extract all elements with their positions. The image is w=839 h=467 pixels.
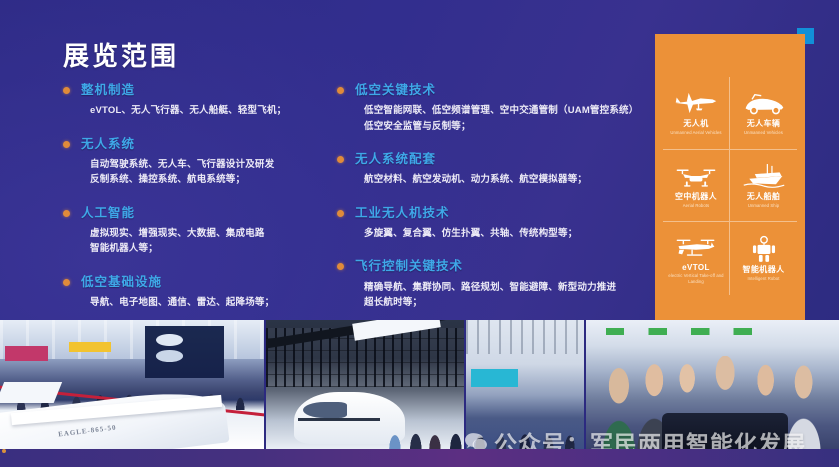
scope-line: 多旋翼、复合翼、仿生扑翼、共轴、传统构型等；	[364, 226, 647, 241]
category-cell-aerial-robot[interactable]: 空中机器人 Aerial Robots	[663, 150, 730, 223]
scope-line: 导航、电子地图、通信、雷达、起降场等；	[90, 295, 331, 310]
category-cell-intelligent-robot[interactable]: 智能机器人 Intelligent Robot	[730, 222, 797, 295]
visitor-crowd	[466, 400, 584, 449]
scope-group-body: 多旋翼、复合翼、仿生扑翼、共轴、传统构型等；	[355, 226, 647, 241]
exhibit-stand	[662, 413, 789, 449]
scope-line: 精确导航、集群协同、路径规划、智能避障、新型动力推进	[364, 280, 647, 295]
orange-dot-icon	[63, 279, 70, 286]
category-cell-label-en: Unmanned Vehicles	[744, 130, 783, 135]
scope-group-heading: 飞行控制关键技术	[355, 258, 647, 274]
quadcopter-icon	[673, 162, 719, 190]
scope-group: 工业无人机技术 多旋翼、复合翼、仿生扑翼、共轴、传统构型等；	[337, 205, 647, 242]
scope-group: 飞行控制关键技术 精确导航、集群协同、路径规划、智能避障、新型动力推进 超长航时…	[337, 258, 647, 310]
scope-line: 低空智能网联、低空频谱管理、空中交通管制（UAM管控系统）	[364, 103, 647, 118]
hangar-helicopter-photo	[266, 320, 466, 449]
unmanned-ship-icon	[741, 162, 787, 190]
orange-dot-icon	[63, 210, 70, 217]
scope-group-heading: 整机制造	[81, 82, 331, 98]
visitor-crowd	[381, 403, 466, 449]
category-cell-evtol[interactable]: eVTOL electric Vertical Take-off and Lan…	[663, 222, 730, 295]
orange-dot-icon	[63, 87, 70, 94]
scope-group-heading: 无人系统配套	[355, 151, 647, 167]
orange-dot-icon	[337, 210, 344, 217]
category-cell-uav[interactable]: 无人机 Unmanned Aerial Vehicles	[663, 77, 730, 150]
booth-display	[145, 326, 224, 378]
scope-line: 智能机器人等；	[90, 241, 331, 256]
scope-group-heading: 工业无人机技术	[355, 205, 647, 221]
scope-line: 自动驾驶系统、无人车、飞行器设计及研发	[90, 157, 331, 172]
helicopter-rotor	[298, 418, 380, 421]
category-cell-label-cn: eVTOL	[682, 264, 710, 273]
scope-line: 低空安全监管与反制等；	[364, 119, 647, 134]
uav-tail	[0, 382, 62, 403]
scope-group-body: 航空材料、航空发动机、动力系统、航空模拟器等；	[355, 172, 647, 187]
scope-group: 人工智能 虚拟现实、增强现实、大数据、集成电路 智能机器人等；	[63, 205, 331, 257]
orange-dot-icon	[337, 156, 344, 163]
orange-dot-icon	[337, 263, 344, 270]
slide-canvas: 展览范围 整机制造 eVTOL、无人飞行器、无人船艇、轻型飞机； 无人系统 自动…	[0, 0, 839, 467]
category-cell-label-cn: 无人船舶	[747, 193, 781, 202]
orange-dot-icon	[63, 141, 70, 148]
scope-group: 低空关键技术 低空智能网联、低空频谱管理、空中交通管制（UAM管控系统） 低空安…	[337, 82, 647, 134]
category-icon-panel: 无人机 Unmanned Aerial Vehicles 无人车辆 Unmann…	[655, 34, 805, 338]
unmanned-car-icon	[741, 89, 787, 117]
scope-group-heading: 低空基础设施	[81, 274, 331, 290]
exit-sign-row	[606, 328, 758, 336]
visitors-discussion-photo	[586, 320, 839, 449]
scope-group-body: 低空智能网联、低空频谱管理、空中交通管制（UAM管控系统） 低空安全监管与反制等…	[355, 103, 647, 134]
scope-line: 超长航时等；	[364, 295, 647, 310]
scope-column-left: 整机制造 eVTOL、无人飞行器、无人船艇、轻型飞机； 无人系统 自动驾驶系统、…	[63, 82, 331, 310]
category-cell-label-en: electric Vertical Take-off and Landing	[665, 273, 727, 284]
scope-group: 无人系统 自动驾驶系统、无人车、飞行器设计及研发 反制系统、操控系统、航电系统等…	[63, 136, 331, 188]
scope-line: 反制系统、操控系统、航电系统等；	[90, 172, 331, 187]
category-cell-label-en: Unmanned Ship	[748, 203, 779, 208]
exhibition-hall-uav-photo: EAGLE-865-50	[0, 320, 266, 449]
evtol-icon	[673, 233, 719, 261]
exhibition-booths-photo	[466, 320, 586, 449]
fixed-wing-uav-icon	[673, 89, 719, 117]
category-cell-label-cn: 无人车辆	[747, 120, 781, 129]
scope-group-heading: 人工智能	[81, 205, 331, 221]
category-cell-label-cn: 无人机	[683, 120, 708, 129]
scope-group-body: 虚拟现实、增强现实、大数据、集成电路 智能机器人等；	[81, 226, 331, 257]
photo-strip: EAGLE-865-50	[0, 320, 839, 449]
category-cell-label-en: Aerial Robots	[683, 203, 709, 208]
humanoid-robot-icon	[741, 235, 787, 263]
bottom-accent-bar	[0, 449, 839, 467]
page-title: 展览范围	[63, 36, 179, 73]
ceiling-truss	[466, 320, 584, 354]
scope-line: 虚拟现实、增强现实、大数据、集成电路	[90, 226, 331, 241]
scope-group-body: 自动驾驶系统、无人车、飞行器设计及研发 反制系统、操控系统、航电系统等；	[81, 157, 331, 188]
scope-column-right: 低空关键技术 低空智能网联、低空频谱管理、空中交通管制（UAM管控系统） 低空安…	[337, 82, 647, 310]
scope-line: 航空材料、航空发动机、动力系统、航空模拟器等；	[364, 172, 647, 187]
scope-group-heading: 无人系统	[81, 136, 331, 152]
booth-banner	[5, 346, 47, 361]
category-cell-label-en: Intelligent Robot	[748, 276, 780, 281]
bottom-dot-decoration	[2, 449, 6, 453]
category-cell-label-en: Unmanned Aerial Vehicles	[670, 130, 721, 135]
category-cell-unmanned-ship[interactable]: 无人船舶 Unmanned Ship	[730, 150, 797, 223]
scope-line: eVTOL、无人飞行器、无人船艇、轻型飞机；	[90, 103, 331, 118]
scope-group-body: 精确导航、集群协同、路径规划、智能避障、新型动力推进 超长航时等；	[355, 280, 647, 311]
scope-group: 整机制造 eVTOL、无人飞行器、无人船艇、轻型飞机；	[63, 82, 331, 119]
category-cell-unmanned-vehicle[interactable]: 无人车辆 Unmanned Vehicles	[730, 77, 797, 150]
category-icon-grid: 无人机 Unmanned Aerial Vehicles 无人车辆 Unmann…	[663, 77, 797, 295]
scope-group-heading: 低空关键技术	[355, 82, 647, 98]
scope-group: 无人系统配套 航空材料、航空发动机、动力系统、航空模拟器等；	[337, 151, 647, 188]
booth-banner	[69, 342, 111, 352]
scope-group-body: 导航、电子地图、通信、雷达、起降场等；	[81, 295, 331, 310]
scope-group: 低空基础设施 导航、电子地图、通信、雷达、起降场等；	[63, 274, 331, 311]
booth-banner	[471, 369, 518, 387]
category-cell-label-cn: 智能机器人	[743, 266, 785, 275]
orange-dot-icon	[337, 87, 344, 94]
category-cell-label-cn: 空中机器人	[675, 193, 717, 202]
scope-group-body: eVTOL、无人飞行器、无人船艇、轻型飞机；	[81, 103, 331, 118]
